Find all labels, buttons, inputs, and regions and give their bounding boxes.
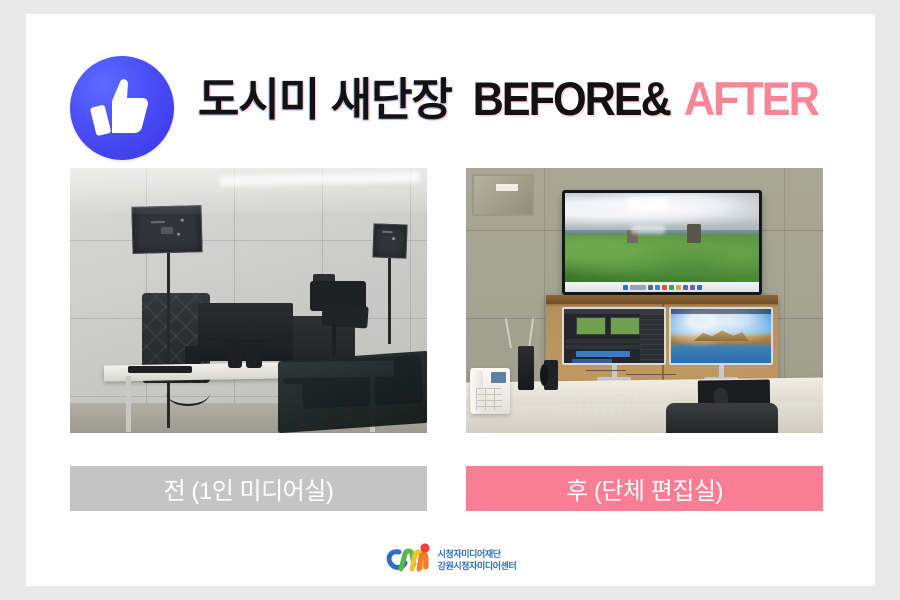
tv-wallpaper-temple — [687, 224, 701, 242]
desk-leg — [126, 376, 131, 432]
desk-object — [185, 346, 201, 364]
after-caption: 후 (단체 편집실) — [466, 466, 823, 511]
wallpaper-mountains — [693, 330, 749, 342]
phone-display — [491, 372, 506, 383]
camera-handle — [321, 303, 368, 328]
header: 도시미 새단장 BEFORE&AFTER — [26, 38, 875, 148]
timeline-clip — [572, 359, 612, 363]
footer: 시청자미디어재단 강원시청자미디어센터 — [26, 534, 875, 586]
editing-monitor — [562, 307, 666, 365]
glass-partition — [278, 351, 427, 433]
timeline-track — [566, 339, 642, 343]
after-caption-label: 후 (단체 편집실) — [566, 471, 723, 506]
wifi-router — [518, 346, 534, 390]
cable — [626, 374, 676, 375]
cmf-logo-icon — [385, 543, 431, 578]
desk-object — [128, 366, 192, 373]
logo-line-1: 시청자미디어재단 — [438, 549, 517, 559]
thumbs-up-icon — [70, 56, 174, 160]
effects-panel — [640, 314, 664, 365]
landscape-wallpaper — [671, 309, 771, 363]
organization-logo: 시청자미디어재단 강원시청자미디어센터 — [385, 543, 517, 578]
reference-monitor — [669, 307, 773, 365]
tv-wallpaper-jungle — [565, 235, 759, 285]
logo-line-2: 강원시청자미디어센터 — [438, 561, 517, 571]
title-after: AFTER — [684, 75, 818, 122]
screen-glare — [631, 225, 665, 234]
cable — [586, 370, 626, 371]
tv-screen — [565, 193, 759, 285]
office-chair — [666, 403, 778, 433]
vent-label — [496, 184, 518, 191]
logo-text: 시청자미디어재단 강원시청자미디어센터 — [438, 549, 517, 571]
wall-tv — [562, 190, 762, 295]
before-photo — [70, 168, 427, 433]
preview-panel — [610, 317, 640, 335]
phone-keypad — [476, 388, 502, 410]
title-before: BEFORE& — [472, 75, 669, 122]
preview-panel — [576, 317, 606, 335]
desk-phone — [470, 368, 510, 414]
cable — [166, 380, 210, 406]
desk-object — [228, 342, 242, 368]
cabinet-top — [546, 295, 778, 304]
timeline-track — [566, 345, 642, 349]
slide-card: 도시미 새단장 BEFORE&AFTER — [26, 14, 875, 586]
monitor-taskbar — [671, 309, 771, 314]
timeline-clip — [576, 351, 630, 357]
editing-software-ui — [564, 309, 664, 363]
light-stand-left — [167, 253, 170, 428]
after-photo — [466, 168, 823, 433]
desk-object — [246, 344, 262, 368]
keyboard — [556, 385, 676, 417]
before-caption-label: 전 (1인 미디어실) — [164, 471, 334, 506]
wall-vent — [472, 174, 534, 216]
cable — [200, 328, 290, 342]
title-korean: 도시미 새단장 — [198, 74, 452, 125]
light-panel-right — [372, 223, 407, 258]
before-caption: 전 (1인 미디어실) — [70, 466, 427, 511]
screen-glare — [627, 197, 669, 210]
tv-taskbar — [565, 282, 759, 292]
speaker-cone — [540, 364, 548, 386]
light-stand-right — [388, 258, 391, 344]
page-title: 도시미 새단장 BEFORE&AFTER — [198, 75, 824, 122]
